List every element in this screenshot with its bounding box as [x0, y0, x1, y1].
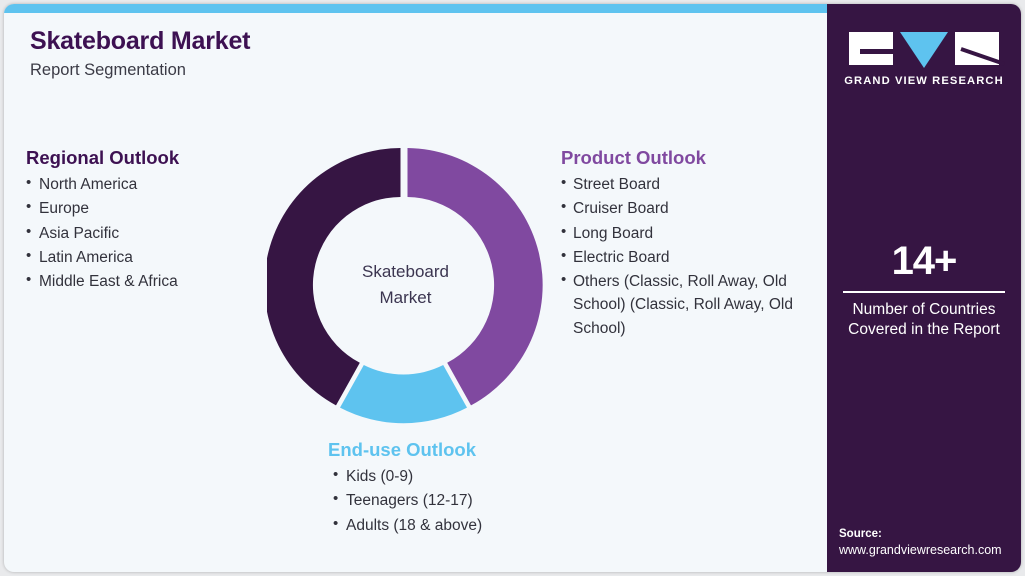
logo-g-icon [849, 32, 893, 65]
stat-divider [843, 291, 1005, 293]
page-title: Skateboard Market [30, 26, 630, 56]
list-item: Asia Pacific [26, 222, 266, 245]
infographic-root: Skateboard Market Report Segmentation Re… [0, 0, 1025, 576]
source-url[interactable]: www.grandviewresearch.com [839, 542, 1021, 559]
stat-caption-line-1: Number of Countries [827, 300, 1021, 320]
segmentation-donut-chart: Skateboard Market [267, 140, 544, 430]
regional-outlook-list: North America Europe Asia Pacific Latin … [26, 173, 266, 293]
logo-marks [827, 32, 1021, 68]
stat-value: 14+ [827, 240, 1021, 282]
list-item: Middle East & Africa [26, 270, 266, 293]
donut-svg [267, 140, 544, 430]
list-item: Kids (0-9) [333, 465, 626, 488]
logo-wordmark: GRAND VIEW RESEARCH [827, 75, 1021, 87]
list-item: Long Board [561, 222, 817, 245]
donut-segment-product-outlook [408, 148, 543, 405]
product-outlook-block: Product Outlook Street Board Cruiser Boa… [561, 146, 817, 341]
source-label: Source: [839, 527, 1021, 543]
logo-v-triangle-icon [900, 32, 948, 68]
list-item: North America [26, 173, 266, 196]
enduse-outlook-block: End-use Outlook Kids (0-9) Teenagers (12… [326, 438, 626, 538]
list-item: Europe [26, 197, 266, 220]
top-accent-bar [4, 4, 827, 13]
country-count-stat: 14+ Number of Countries Covered in the R… [827, 240, 1021, 340]
list-item: Others (Classic, Roll Away, Old School) … [561, 270, 817, 340]
stat-caption: Number of Countries Covered in the Repor… [827, 300, 1021, 340]
regional-outlook-block: Regional Outlook North America Europe As… [26, 146, 266, 294]
enduse-outlook-title: End-use Outlook [326, 438, 626, 461]
product-outlook-title: Product Outlook [561, 146, 817, 169]
product-outlook-list: Street Board Cruiser Board Long Board El… [561, 173, 817, 340]
page-subtitle: Report Segmentation [30, 61, 630, 81]
grand-view-research-logo: GRAND VIEW RESEARCH [827, 32, 1021, 87]
list-item: Street Board [561, 173, 817, 196]
list-item: Adults (18 & above) [333, 514, 626, 537]
regional-outlook-title: Regional Outlook [26, 146, 266, 169]
sidebar-panel: GRAND VIEW RESEARCH 14+ Number of Countr… [827, 4, 1021, 572]
list-item: Latin America [26, 246, 266, 269]
list-item: Electric Board [561, 246, 817, 269]
header: Skateboard Market Report Segmentation [30, 26, 630, 81]
source-block: Source: www.grandviewresearch.com [839, 527, 1021, 559]
donut-segment-enduse-outlook [340, 365, 467, 423]
stat-caption-line-2: Covered in the Report [827, 320, 1021, 340]
logo-r-icon [955, 32, 999, 65]
list-item: Cruiser Board [561, 197, 817, 220]
enduse-outlook-list: Kids (0-9) Teenagers (12-17) Adults (18 … [326, 465, 626, 537]
donut-segment-regional-outlook [267, 148, 401, 405]
content-card: Skateboard Market Report Segmentation Re… [4, 4, 1021, 572]
list-item: Teenagers (12-17) [333, 489, 626, 512]
